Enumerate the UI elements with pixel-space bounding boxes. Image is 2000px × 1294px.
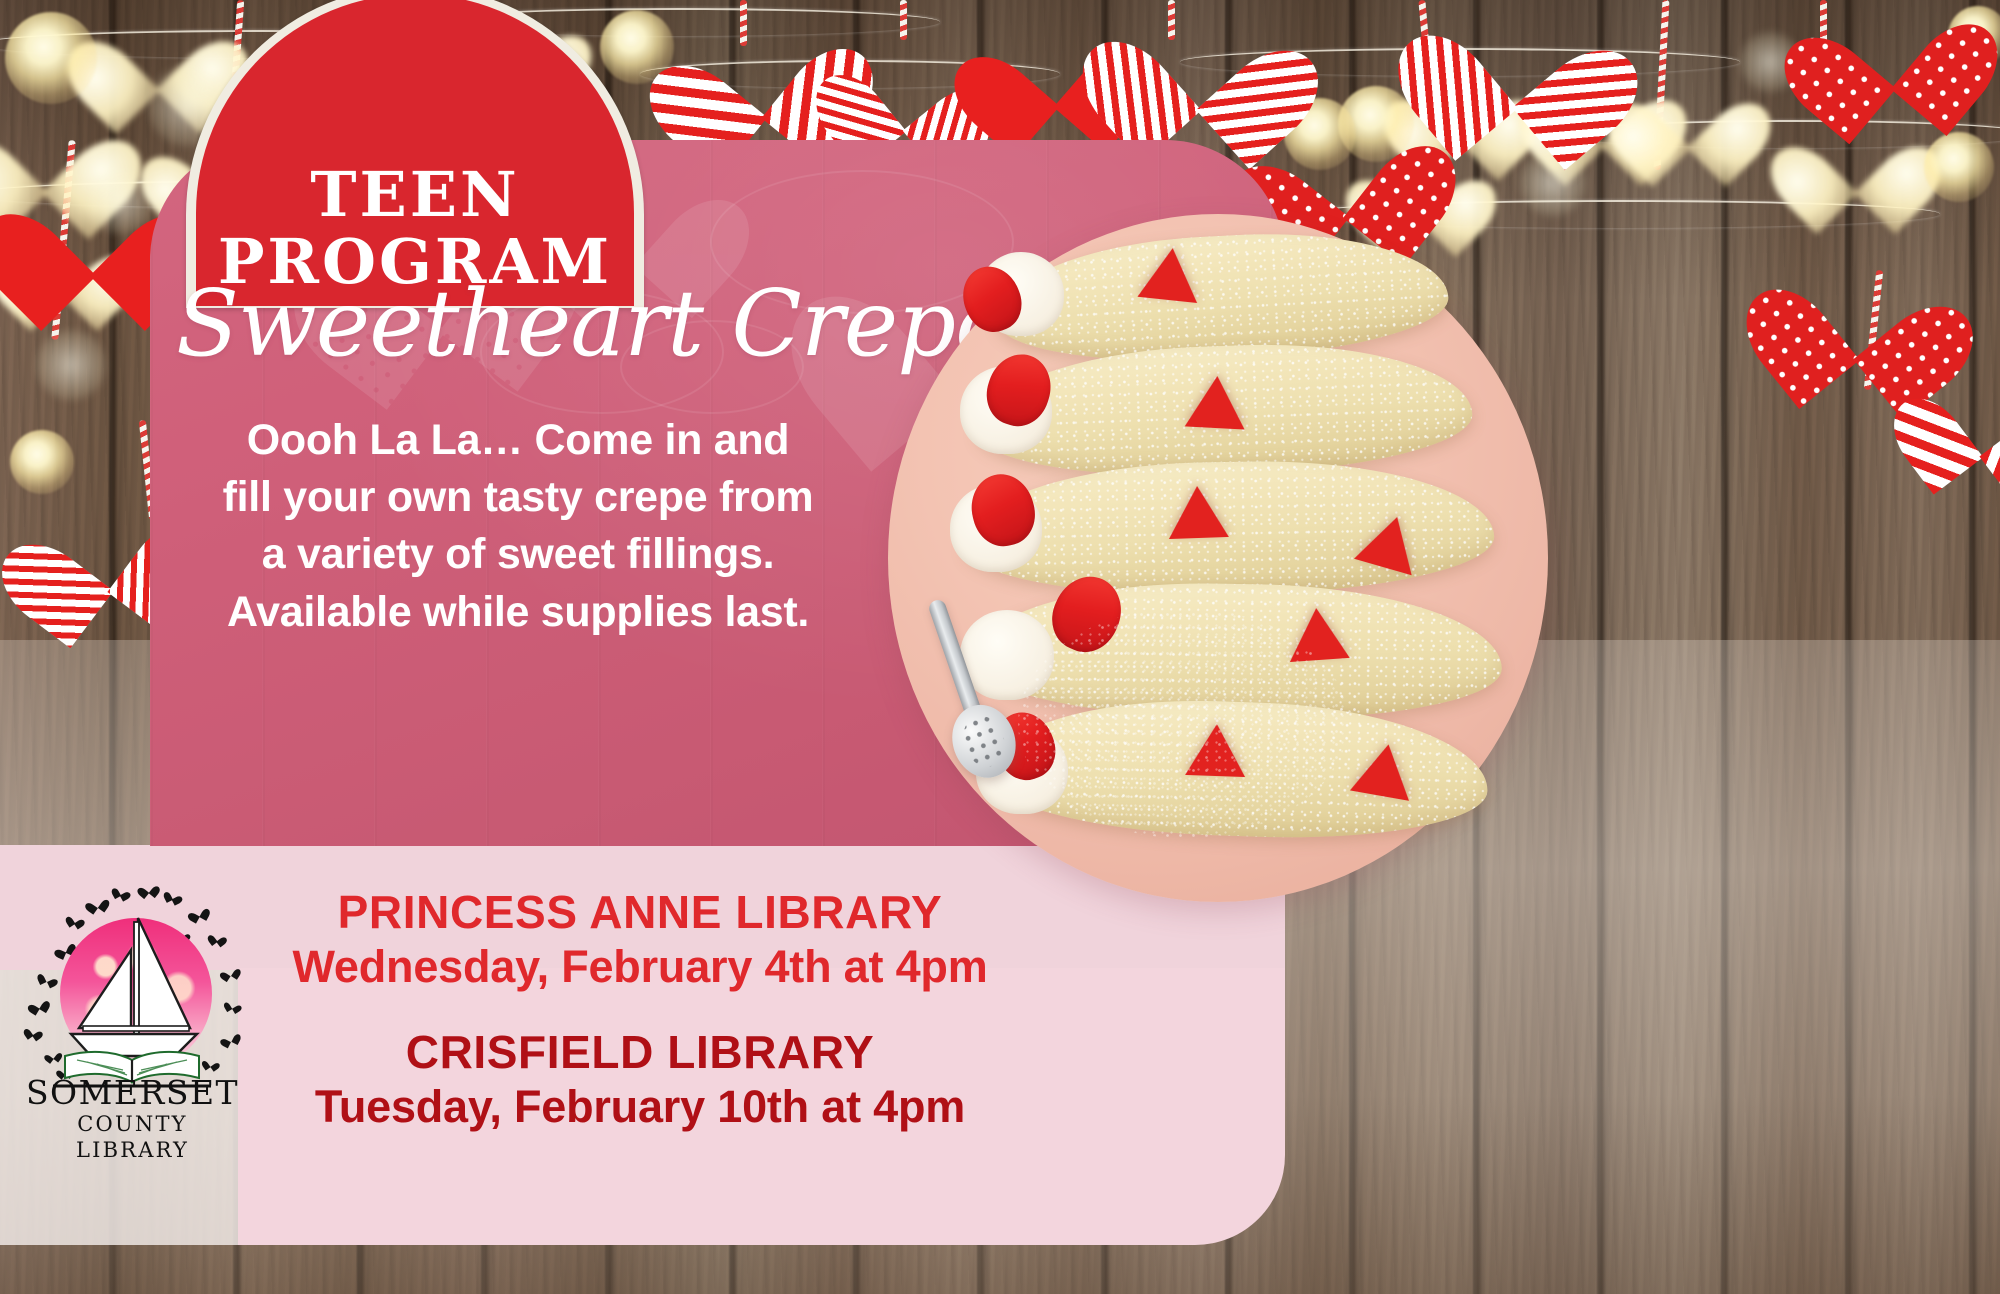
logo-name-line-1: SOMERSET [25,1076,240,1109]
sailboat-over-book-icon [35,910,230,1095]
event-datetime: Tuesday, February 10th at 4pm [255,1083,1025,1131]
description-line: fill your own tasty crepe from [168,469,868,526]
badge-line-1: TEEN [310,164,519,225]
event-info-crisfield: CRISFIELD LIBRARY Tuesday, February 10th… [255,1028,1025,1130]
logo-wordmark: SOMERSET COUNTY LIBRARY [25,1076,240,1164]
powdered-sugar-scatter [1018,608,1348,838]
description-line: a variety of sweet fillings. [168,526,868,583]
library-logo: SOMERSET COUNTY LIBRARY [25,880,240,1160]
event-venue-name: CRISFIELD LIBRARY [255,1028,1025,1077]
strawberry-heart [1167,485,1229,539]
strawberry-heart [1137,245,1202,303]
crepes-photograph [868,178,1588,958]
event-poster: TEEN PROGRAM Sweetheart Crepes Oooh La L… [0,0,2000,1294]
description-line: Oooh La La… Come in and [168,412,868,469]
event-datetime: Wednesday, February 4th at 4pm [255,943,1025,991]
logo-name-line-2: COUNTY LIBRARY [25,1111,240,1164]
poster-title: Sweetheart Crepes [176,278,916,370]
strawberry-heart [1185,374,1248,429]
strawberry-heart [1350,739,1418,801]
event-info-princess-anne: PRINCESS ANNE LIBRARY Wednesday, Februar… [255,888,1025,990]
event-venue-name: PRINCESS ANNE LIBRARY [255,888,1025,937]
description-line: Available while supplies last. [168,584,868,641]
poster-description: Oooh La La… Come in and fill your own ta… [168,412,868,641]
